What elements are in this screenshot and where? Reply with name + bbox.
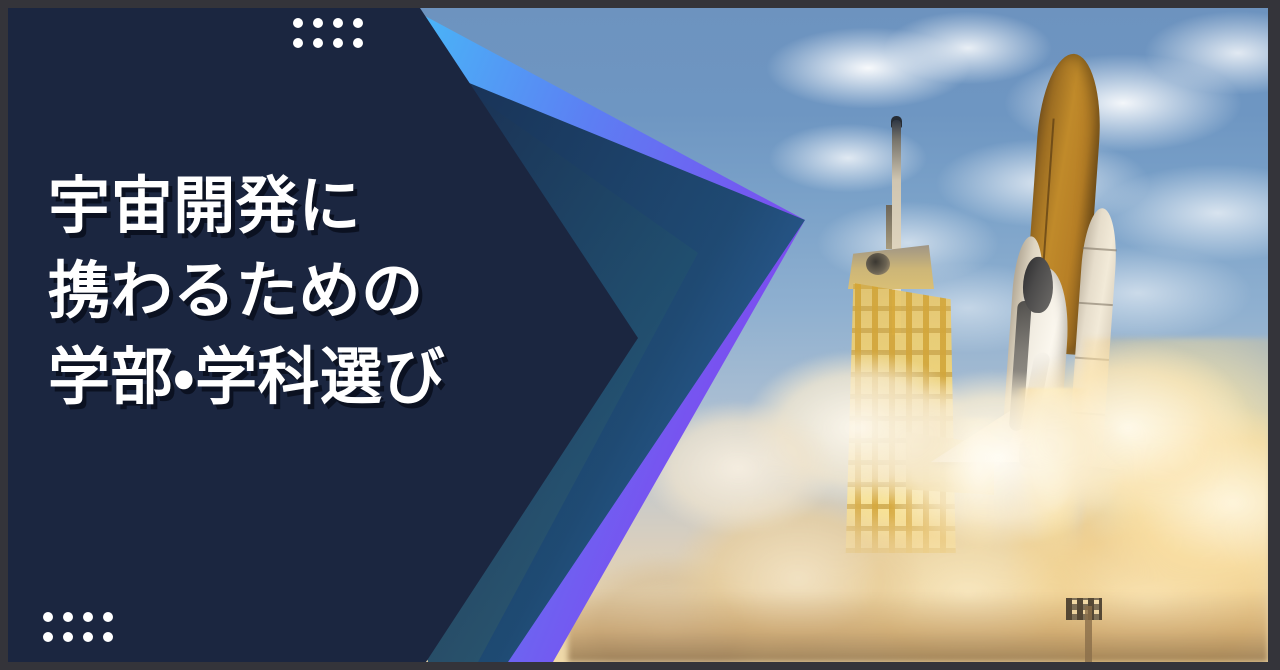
ground-haze [568, 592, 1268, 662]
title-line-3: 学部・学科選び [48, 335, 608, 421]
dot [293, 38, 303, 48]
title-line-1: 宇宙開発に [48, 164, 608, 250]
floodlight-head-icon [1066, 598, 1102, 620]
dot [353, 18, 363, 28]
dot [333, 38, 343, 48]
dot [333, 18, 343, 28]
dot [43, 612, 53, 622]
dot [43, 632, 53, 642]
dot [83, 612, 93, 622]
dot [313, 18, 323, 28]
dot-grid-bottom [43, 612, 113, 642]
tower-dish-icon [866, 253, 890, 275]
banner-title: 宇宙開発に 携わるための 学部・学科選び [48, 164, 608, 421]
tower-antenna [886, 205, 892, 249]
dot [63, 632, 73, 642]
dot [83, 632, 93, 642]
dot [103, 632, 113, 642]
dot-grid-top [293, 18, 363, 48]
title-line-2: 携わるための [48, 249, 608, 335]
dot [293, 18, 303, 28]
dot [63, 612, 73, 622]
dot [103, 612, 113, 622]
banner-canvas: 宇宙開発に 携わるための 学部・学科選び [0, 0, 1280, 670]
dot [313, 38, 323, 48]
dot [353, 38, 363, 48]
floodlight-pole [1085, 606, 1092, 662]
orbiter-nose-cone [1023, 257, 1054, 314]
